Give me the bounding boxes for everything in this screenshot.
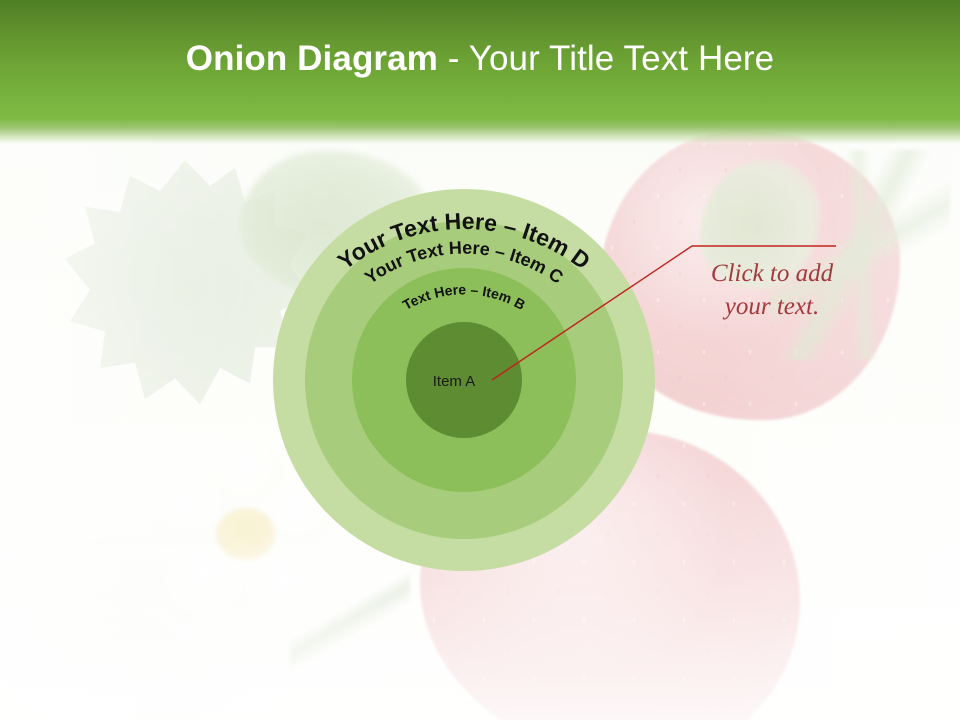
callout-placeholder[interactable]: Click to add your text. — [672, 257, 872, 323]
callout-line-1: Click to add — [672, 257, 872, 290]
callout-line-2: your text. — [672, 290, 872, 323]
page-title-rest: - Your Title Text Here — [438, 39, 774, 78]
page-title-emphasis: Onion Diagram — [186, 39, 438, 78]
page-title: Onion Diagram - Your Title Text Here — [0, 38, 960, 80]
slide-canvas: Onion Diagram - Your Title Text Here You… — [0, 0, 960, 720]
